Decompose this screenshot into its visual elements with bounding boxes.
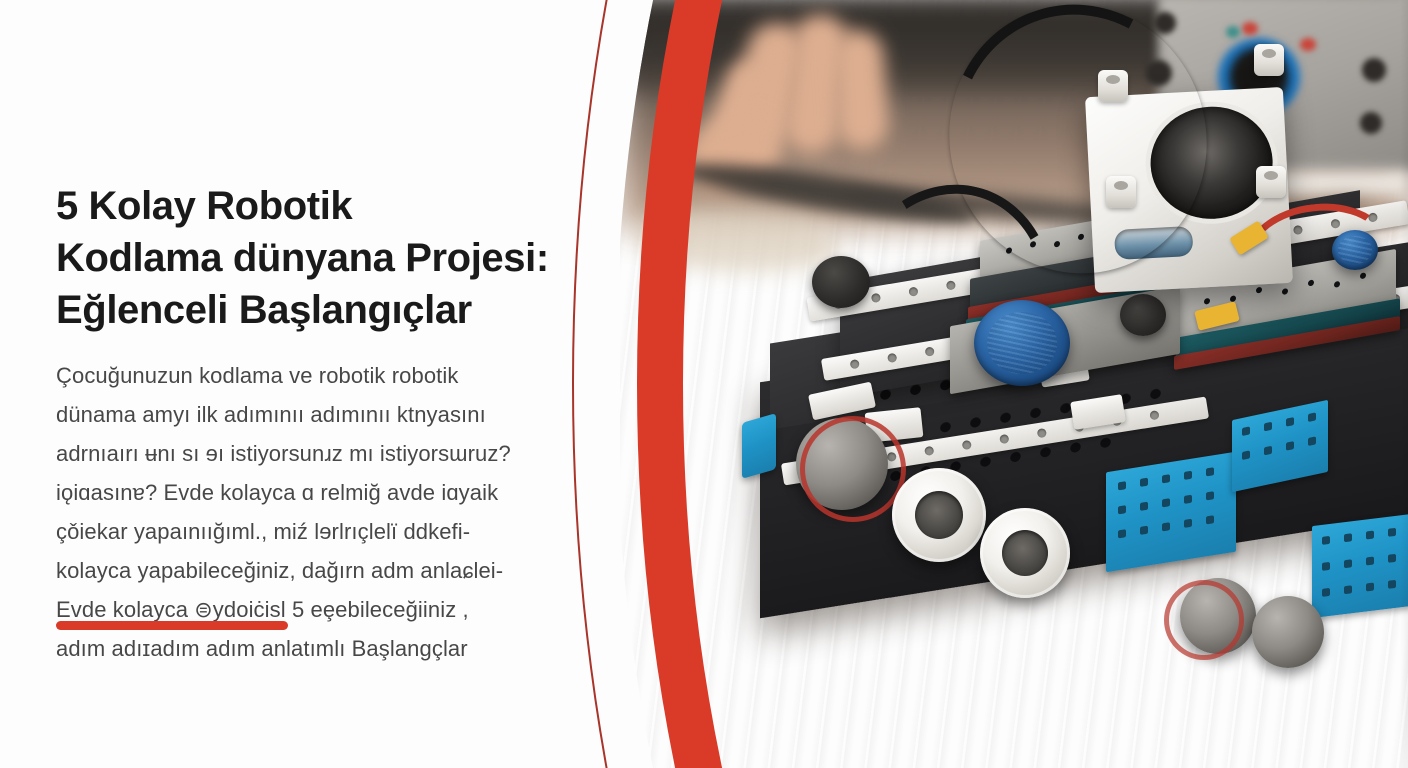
wheel-rear-red-ring: [800, 416, 906, 522]
wheel-right-red-ring: [1164, 580, 1244, 660]
body-paragraph: Çocuğunuzun kodlama ve robotik robotik d…: [56, 336, 576, 668]
accent-underline: [56, 621, 288, 630]
page-title: 5 Kolay Robotik Kodlama dünyana Projesi:…: [56, 180, 576, 336]
right-edge-shade: [1400, 0, 1408, 768]
peg-bottom-right: [1256, 166, 1286, 198]
roller-front-2: [980, 508, 1070, 598]
blue-panel-rear: [1312, 514, 1408, 618]
blue-tab-left: [742, 413, 776, 479]
robot-assembly: [620, 0, 1408, 768]
blue-panel-front: [1106, 452, 1236, 573]
text-column: 5 Kolay Robotik Kodlama dünyana Projesi:…: [56, 180, 576, 668]
roller-front-1: [892, 468, 986, 562]
capacitor-dark-2: [1120, 294, 1166, 336]
banner-canvas: 5 Kolay Robotik Kodlama dünyana Projesi:…: [0, 0, 1408, 768]
wheel-right-2: [1252, 596, 1324, 668]
peg-top-right: [1254, 44, 1284, 76]
